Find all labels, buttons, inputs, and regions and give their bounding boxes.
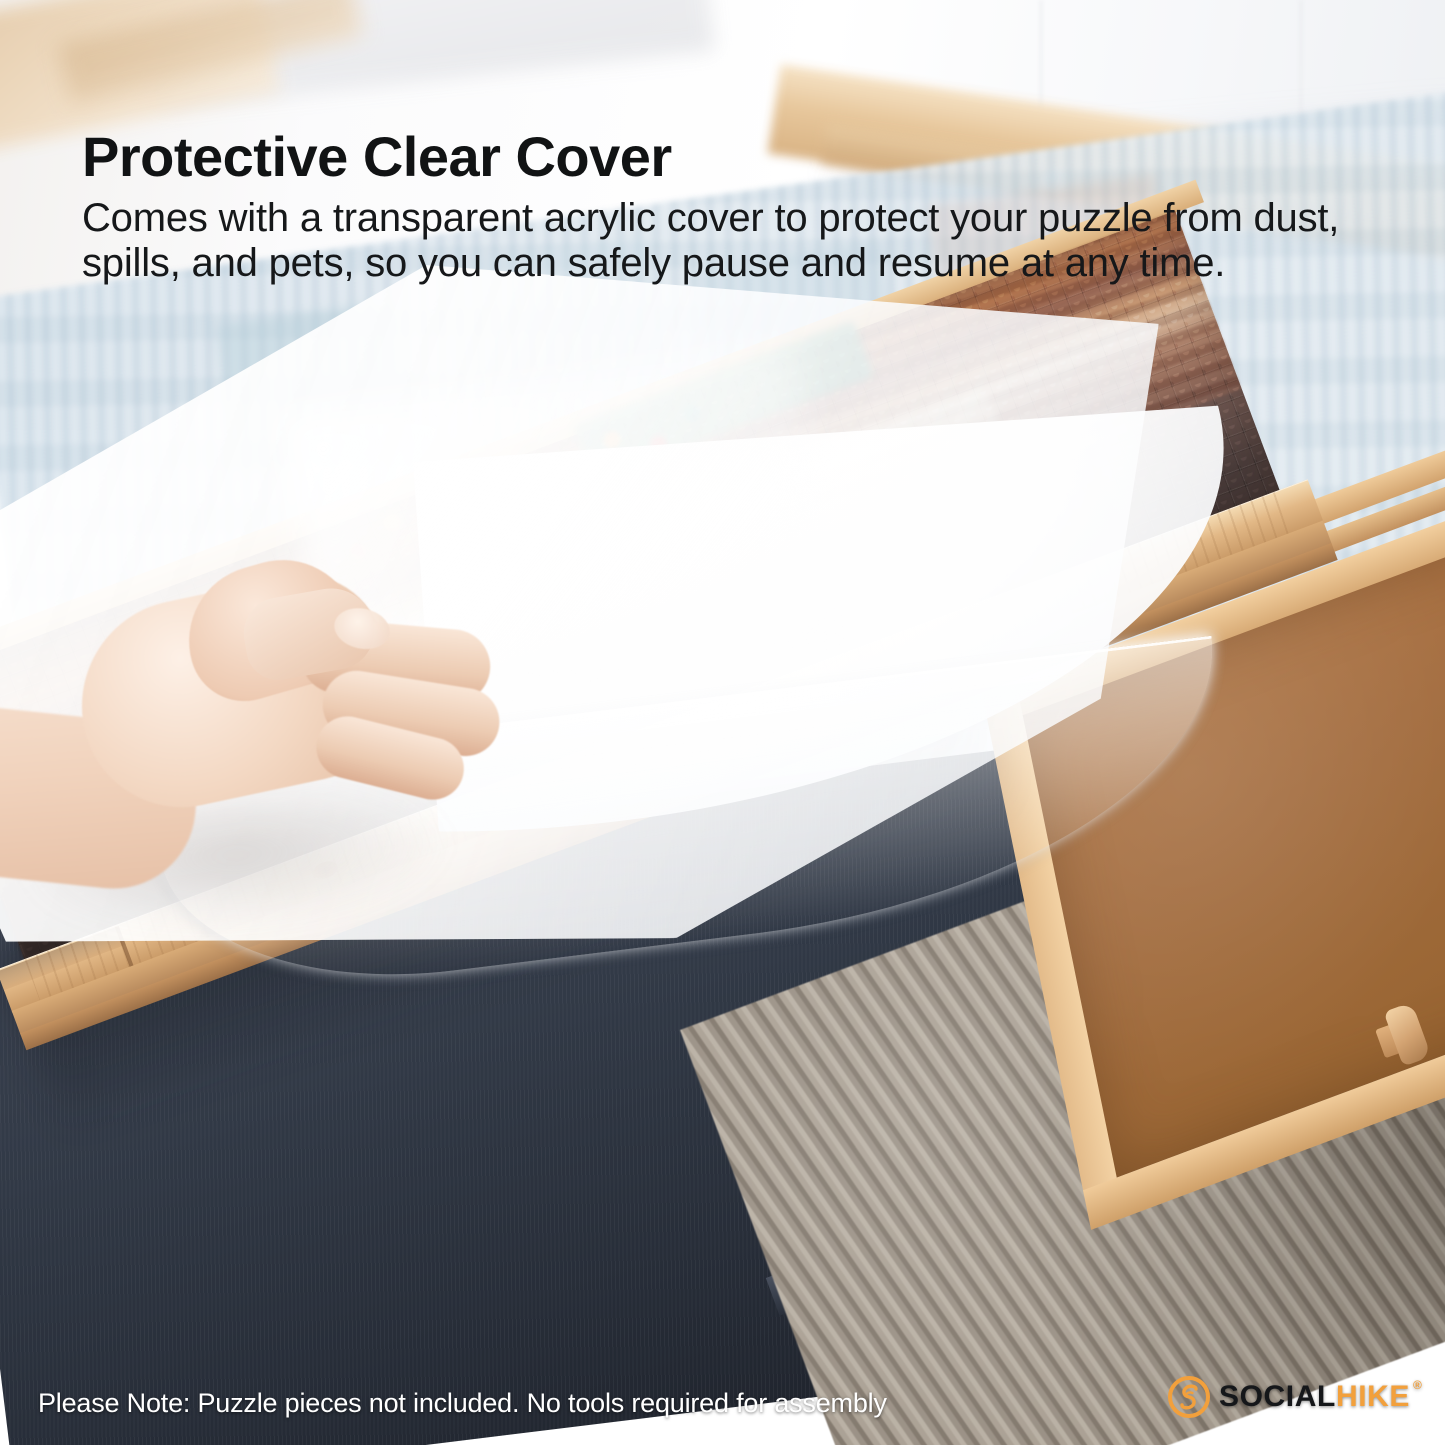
brand-name-part2: HIKE [1336,1380,1410,1414]
registered-mark: ® [1413,1378,1422,1392]
circular-s-spiral-icon [1168,1376,1210,1418]
brand-name-part1: SOCIAL [1219,1380,1336,1414]
product-feature-image: Protective Clear Cover Comes with a tran… [0,0,1445,1445]
headline: Protective Clear Cover [82,128,672,187]
brand-wordmark: SOCIALHIKE® [1219,1380,1422,1414]
brand-logo: SOCIALHIKE® [1168,1376,1422,1418]
body-copy: Comes with a transparent acrylic cover t… [82,196,1394,286]
disclaimer-note: Please Note: Puzzle pieces not included.… [38,1388,887,1419]
hand-lifting-cover [0,457,584,923]
